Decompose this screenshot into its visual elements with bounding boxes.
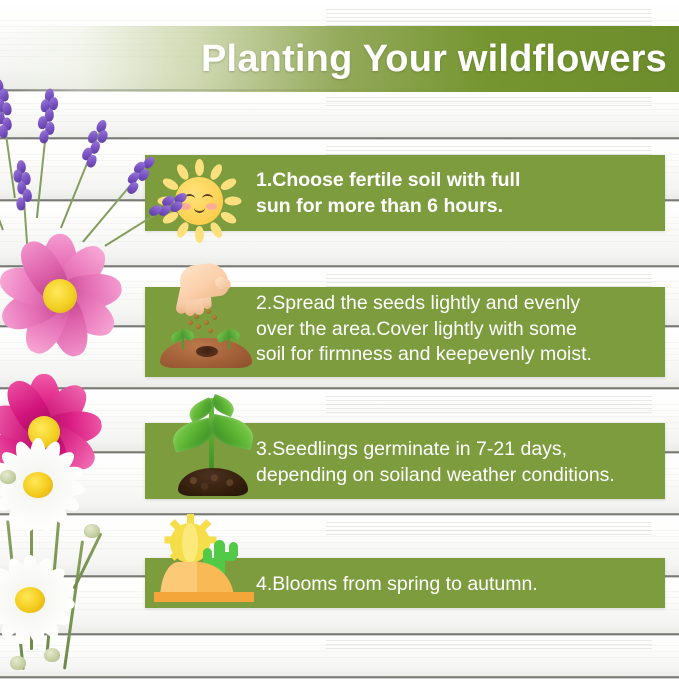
step-1-line-1: 1.Choose fertile soil with full <box>256 168 656 194</box>
step-2-line-1: 2.Spread the seeds lightly and evenly <box>256 291 666 317</box>
title-banner: Planting Your wildflowers <box>0 26 679 92</box>
desert-sun-cactus-icon <box>148 518 258 610</box>
step-3-text: 3.Seedlings germinate in 7-21 days, depe… <box>256 437 656 488</box>
step-4-text: 4.Blooms from spring to autumn. <box>256 572 656 598</box>
step-2-line-2: over the area.Cover lightly with some <box>256 317 666 343</box>
plank <box>0 636 679 679</box>
smiling-sun-icon <box>156 158 242 244</box>
step-2-line-3: soil for firmness and keepevenly moist. <box>256 342 666 368</box>
poster-root: Planting Your wildflowers <box>0 0 679 679</box>
step-2-text: 2.Spread the seeds lightly and evenly ov… <box>256 291 666 368</box>
page-title: Planting Your wildflowers <box>201 38 679 81</box>
hand-sowing-seeds-icon <box>158 262 254 370</box>
step-1-line-2: sun for more than 6 hours. <box>256 194 656 220</box>
step-4-line-1: 4.Blooms from spring to autumn. <box>256 572 656 598</box>
step-3-line-2: depending on soiland weather conditions. <box>256 463 656 489</box>
step-3-line-1: 3.Seedlings germinate in 7-21 days, <box>256 437 656 463</box>
step-1-text: 1.Choose fertile soil with full sun for … <box>256 168 656 219</box>
plank <box>0 92 679 140</box>
seedling-sprout-icon <box>166 392 258 500</box>
